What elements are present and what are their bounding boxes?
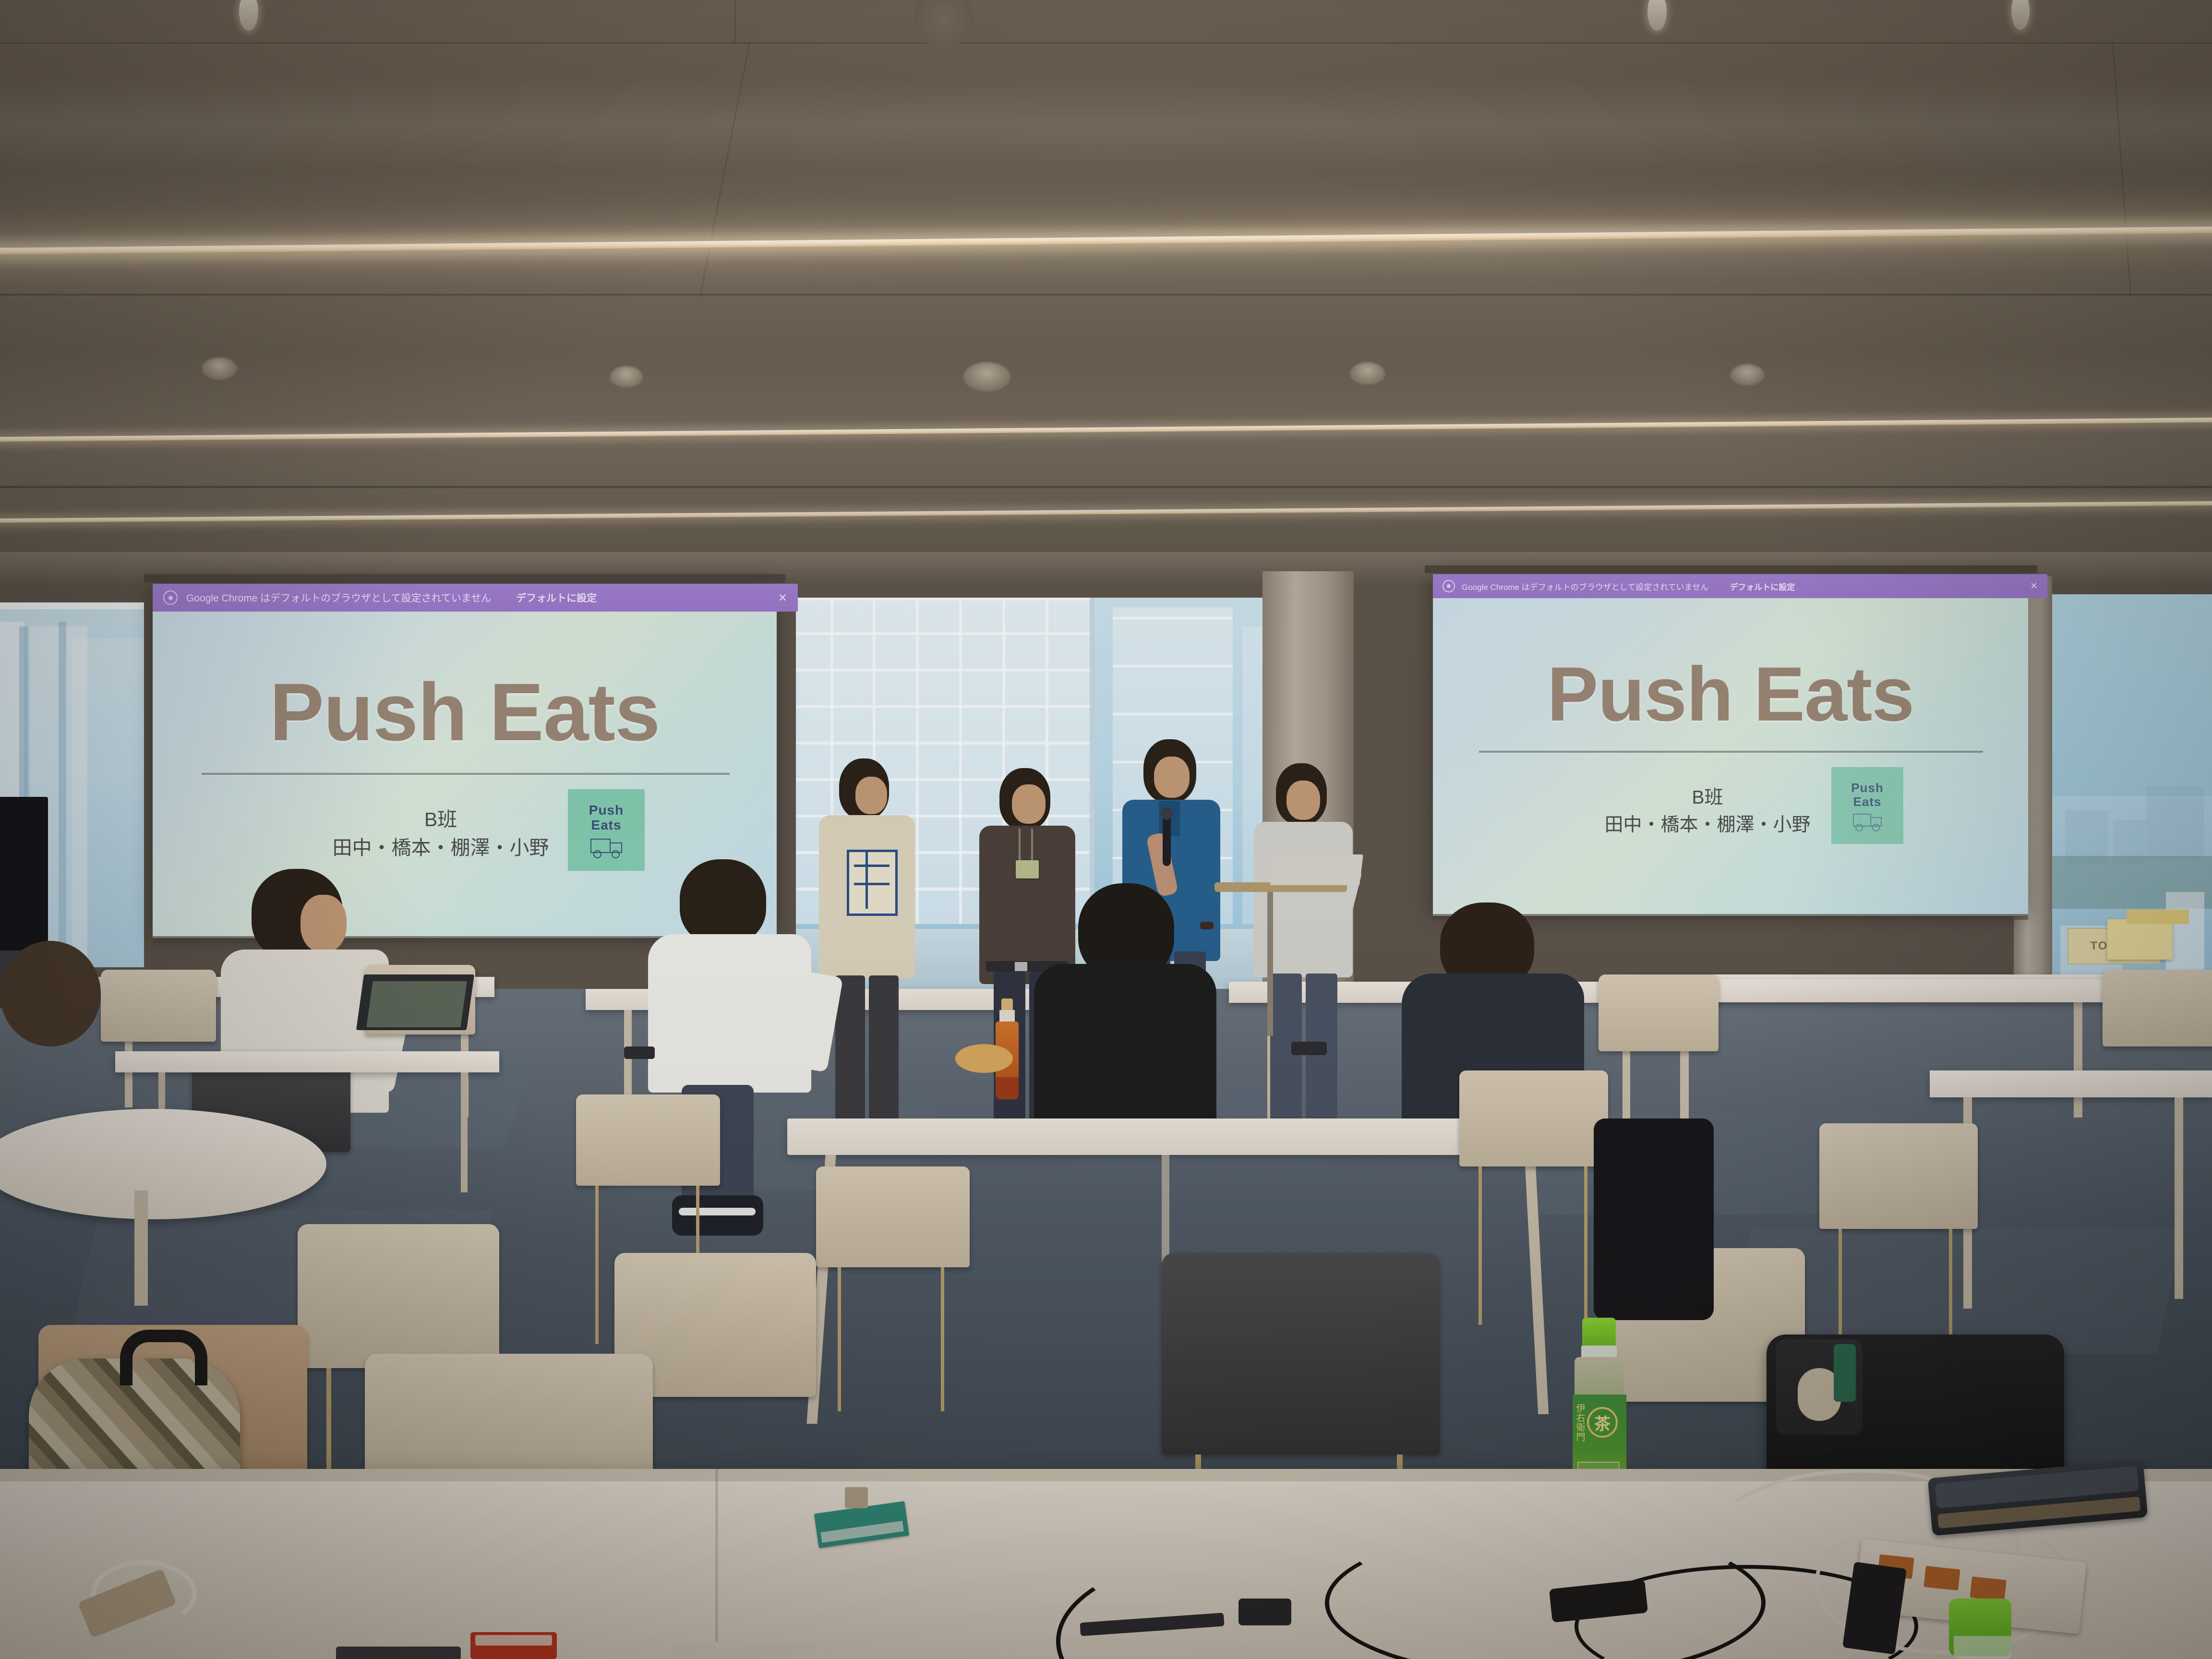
tea-brand: 伊右衛門 xyxy=(1575,1404,1586,1452)
ceiling-seam xyxy=(0,294,2212,296)
microphone-head xyxy=(1161,807,1173,820)
chrome-icon xyxy=(163,590,178,605)
slide-title: Push Eats xyxy=(1433,650,2028,738)
snack-plate xyxy=(955,1044,1013,1073)
truck-icon xyxy=(1853,813,1882,830)
belt-buckle xyxy=(1015,962,1027,971)
right-slide: Push Eats B班 田中・橋本・棚澤・小野 Push Eats xyxy=(1433,598,2028,916)
attendee-dark-jacket-center xyxy=(1027,883,1219,1152)
conference-room-photo: TOWER Google Chrome はデフォルトのブラウザとして設定されてい… xyxy=(0,0,2212,1659)
podium-stem xyxy=(1267,892,1273,1036)
table-mid-left xyxy=(115,1051,499,1072)
ceiling-panel-joint xyxy=(734,0,736,42)
slide-team: B班 xyxy=(1544,784,1871,812)
chrome-notification-bar[interactable]: Google Chrome はデフォルトのブラウザとして設定されていません デフ… xyxy=(153,584,798,612)
chrome-icon xyxy=(1443,580,1455,592)
notification-message: Google Chrome はデフォルトのブラウザとして設定されていません xyxy=(1462,580,1708,592)
chair-dark-front[interactable] xyxy=(1162,1253,1440,1455)
ceiling xyxy=(0,0,2212,566)
slide-title: Push Eats xyxy=(153,665,777,759)
chair[interactable] xyxy=(576,1094,720,1186)
microphone xyxy=(1163,812,1171,866)
outlet-socket[interactable] xyxy=(1970,1576,2007,1601)
ceiling-downlight xyxy=(1729,363,1766,386)
table-center-front xyxy=(787,1118,1575,1155)
paper-note xyxy=(2127,910,2189,924)
set-default-button[interactable]: デフォルトに設定 xyxy=(1730,580,1795,592)
screen-frame-top-left xyxy=(144,574,785,583)
set-default-button[interactable]: デフォルトに設定 xyxy=(516,590,597,605)
shoe-stripe xyxy=(679,1208,756,1215)
chair[interactable] xyxy=(101,970,216,1042)
presenter-4 xyxy=(1248,763,1358,1128)
bag-tag xyxy=(1834,1344,1856,1402)
logo-line-2: Eats xyxy=(591,818,621,833)
logo-line-2: Eats xyxy=(1853,795,1882,809)
ceiling-downlight xyxy=(609,365,644,388)
right-projection-screen[interactable]: Google Chrome はデフォルトのブラウザとして設定されていません デフ… xyxy=(1433,574,2028,916)
laptop-screen xyxy=(366,981,467,1027)
remote-control[interactable] xyxy=(624,1046,655,1059)
push-eats-logo: Push Eats xyxy=(1831,767,1903,844)
table-right-front xyxy=(1930,1070,2212,1097)
chair[interactable] xyxy=(2103,970,2212,1046)
close-icon[interactable]: ✕ xyxy=(778,591,787,604)
chair[interactable] xyxy=(298,1224,499,1368)
ceiling-downlight xyxy=(962,361,1012,392)
usb-plug xyxy=(1238,1599,1291,1625)
outlet-socket[interactable] xyxy=(1923,1566,1960,1590)
dark-object xyxy=(336,1647,461,1659)
screen-frame-top-right xyxy=(1425,565,2037,573)
chair[interactable] xyxy=(1459,1070,1608,1166)
paper-note xyxy=(2107,919,2173,960)
tea-glyph: 茶 xyxy=(1587,1407,1618,1438)
notification-message: Google Chrome はデフォルトのブラウザとして設定されていません xyxy=(186,590,491,605)
ceiling-seam xyxy=(0,42,2212,44)
bottle-neck-foreground xyxy=(1954,1636,2011,1659)
laptop xyxy=(1270,854,1363,885)
close-icon[interactable]: ✕ xyxy=(2030,581,2038,592)
ceiling-seam xyxy=(0,486,2212,488)
lanyard-badge xyxy=(1016,860,1039,878)
ceiling-downlight xyxy=(1349,361,1386,385)
truck-icon xyxy=(590,838,622,857)
white-object xyxy=(672,1642,816,1659)
chair[interactable] xyxy=(1819,1123,1978,1229)
chair[interactable] xyxy=(1599,974,1719,1051)
slide-divider xyxy=(202,773,730,775)
logo-line-1: Push xyxy=(589,803,624,818)
slide-members: 田中・橋本・棚澤・小野 xyxy=(273,834,609,862)
backpack-strap xyxy=(120,1330,207,1385)
ceiling-downlight xyxy=(201,356,238,380)
shoe xyxy=(672,1195,763,1236)
table-seam xyxy=(715,1469,718,1659)
chrome-notification-bar-right[interactable]: Google Chrome はデフォルトのブラウザとして設定されていません デフ… xyxy=(1433,574,2047,598)
slide-members: 田中・橋本・棚澤・小野 xyxy=(1544,812,1871,839)
slide-team: B班 xyxy=(273,805,609,834)
remote-control[interactable] xyxy=(1291,1042,1327,1055)
person-head-left-edge xyxy=(0,941,101,1046)
slide-divider xyxy=(1479,751,1983,753)
bottle-cap xyxy=(1582,1318,1616,1347)
black-bag-under-table xyxy=(1594,1118,1714,1320)
push-eats-logo: Push Eats xyxy=(568,789,645,871)
badge-clip xyxy=(845,1487,868,1508)
logo-line-1: Push xyxy=(1851,781,1884,795)
chair[interactable] xyxy=(816,1166,970,1267)
wall-monitor xyxy=(0,797,48,955)
tshirt-graphic xyxy=(847,850,898,916)
